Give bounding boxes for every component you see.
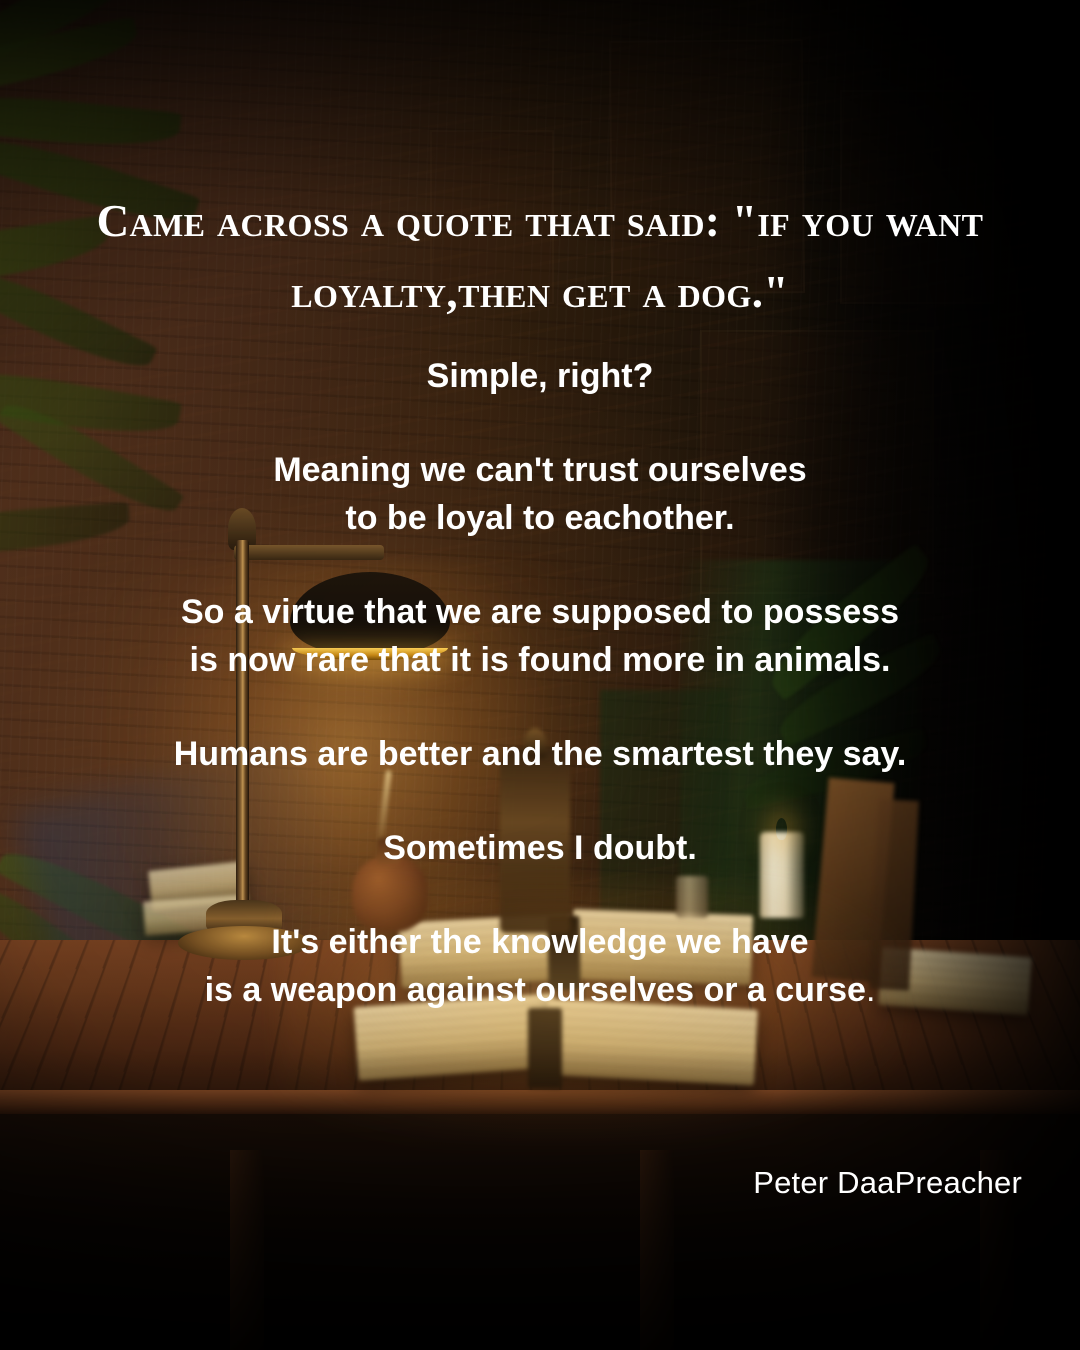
quote-body: Simple, right? Meaning we can't trust ou… [0,352,1080,1014]
body-paragraph: So a virtue that we are supposed to poss… [0,588,1080,684]
body-paragraph-final-text: It's either the knowledge we have is a w… [205,923,866,1009]
body-paragraph: Humans are better and the smartest they … [0,730,1080,778]
body-paragraph: Sometimes I doubt. [0,824,1080,872]
quote-headline: Came across a quote that said: "if you w… [0,186,1080,328]
body-paragraph: Meaning we can't trust ourselves to be l… [0,446,1080,542]
quote-card: Came across a quote that said: "if you w… [0,0,1080,1350]
body-paragraph: Simple, right? [0,352,1080,400]
text-overlay: Came across a quote that said: "if you w… [0,0,1080,1350]
final-period: . [866,971,875,1009]
author-signature: Peter DaaPreacher [753,1165,1022,1201]
body-paragraph-final: It's either the knowledge we have is a w… [0,918,1080,1014]
